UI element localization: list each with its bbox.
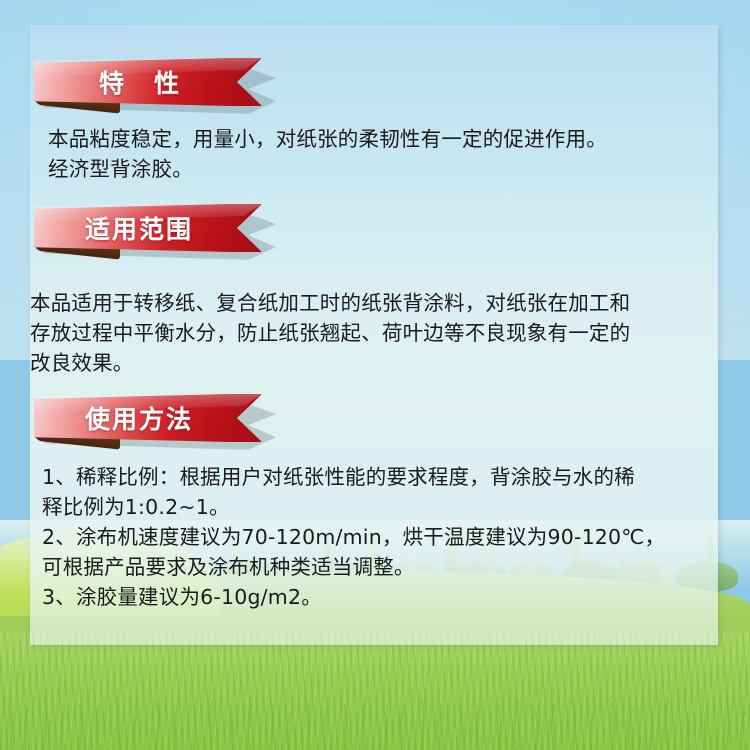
ribbon-label-scope: 适用范围 <box>34 204 244 252</box>
ribbon-label-usage: 使用方法 <box>34 394 244 442</box>
body-line: 本品适用于转移纸、复合纸加工时的纸张背涂料，对纸张在加工和 <box>30 288 710 318</box>
section-body-usage: 1、稀释比例：根据用户对纸张性能的要求程度，背涂胶与水的稀 释比例为1:0.2~… <box>42 462 712 612</box>
section-body-features: 本品粘度稳定，用量小，对纸张的柔韧性有一定的促进作用。 经济型背涂胶。 <box>48 124 698 184</box>
body-line: 存放过程中平衡水分，防止纸张翘起、荷叶边等不良现象有一定的 <box>30 318 710 348</box>
section-banner-scope: 适用范围 <box>30 198 290 270</box>
body-line: 3、涂胶量建议为6-10g/m2。 <box>42 582 712 612</box>
body-line: 1、稀释比例：根据用户对纸张性能的要求程度，背涂胶与水的稀 <box>42 462 712 492</box>
body-line: 本品粘度稳定，用量小，对纸张的柔韧性有一定的促进作用。 <box>48 124 698 154</box>
body-line: 可根据产品要求及涂布机种类适当调整。 <box>42 552 712 582</box>
body-line: 改良效果。 <box>30 348 710 378</box>
section-banner-features: 特性 <box>30 52 290 124</box>
product-spec-poster: 特性 本品粘度稳定，用量小，对纸张的柔韧性有一定的促进作用。 经济型背涂胶。 适… <box>0 0 750 750</box>
body-line: 释比例为1:0.2~1。 <box>42 492 712 522</box>
ribbon-label-features: 特性 <box>34 58 244 106</box>
section-banner-usage: 使用方法 <box>30 388 290 460</box>
section-body-scope: 本品适用于转移纸、复合纸加工时的纸张背涂料，对纸张在加工和 存放过程中平衡水分，… <box>30 288 710 378</box>
body-line: 2、涂布机速度建议为70-120m/min，烘干温度建议为90-120℃， <box>42 522 712 552</box>
body-line: 经济型背涂胶。 <box>48 154 698 184</box>
grass-blades <box>0 632 750 750</box>
